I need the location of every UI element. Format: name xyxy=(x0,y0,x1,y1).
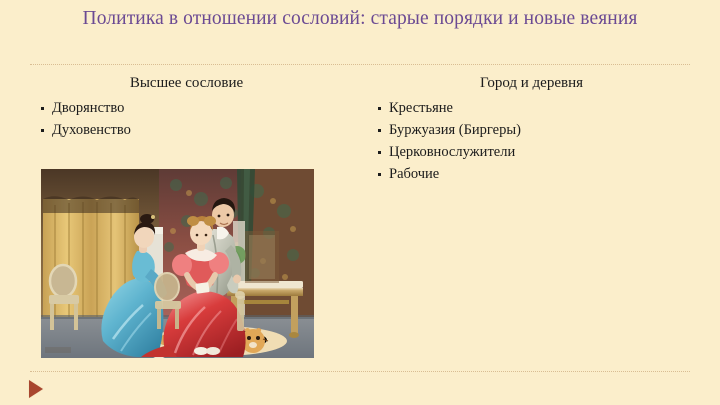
divider-bottom xyxy=(30,371,690,372)
divider-top xyxy=(30,64,690,65)
painting-image xyxy=(41,169,314,358)
list-item: Буржуазия (Биргеры) xyxy=(363,119,700,141)
slide-root: Политика в отношении сословий: старые по… xyxy=(0,0,720,405)
list-item: Крестьяне xyxy=(363,97,700,119)
painting-canvas xyxy=(41,169,314,358)
list-item: Рабочие xyxy=(363,163,700,185)
list-item: Духовенство xyxy=(30,119,343,141)
column-heading-town-and-village: Город и деревня xyxy=(363,74,700,93)
painting-artwork xyxy=(41,169,314,358)
column-heading-higher-estate: Высшее сословие xyxy=(30,74,343,93)
list-item: Дворянство xyxy=(30,97,343,119)
bullet-list-town-and-village: Крестьяне Буржуазия (Биргеры) Церковносл… xyxy=(363,97,700,185)
next-slide-arrow-icon[interactable] xyxy=(29,380,43,398)
bullet-list-higher-estate: Дворянство Духовенство xyxy=(30,97,343,141)
page-title: Политика в отношении сословий: старые по… xyxy=(40,6,680,31)
list-item: Церковнослужители xyxy=(363,141,700,163)
column-town-and-village: Город и деревня Крестьяне Буржуазия (Бир… xyxy=(355,74,720,185)
